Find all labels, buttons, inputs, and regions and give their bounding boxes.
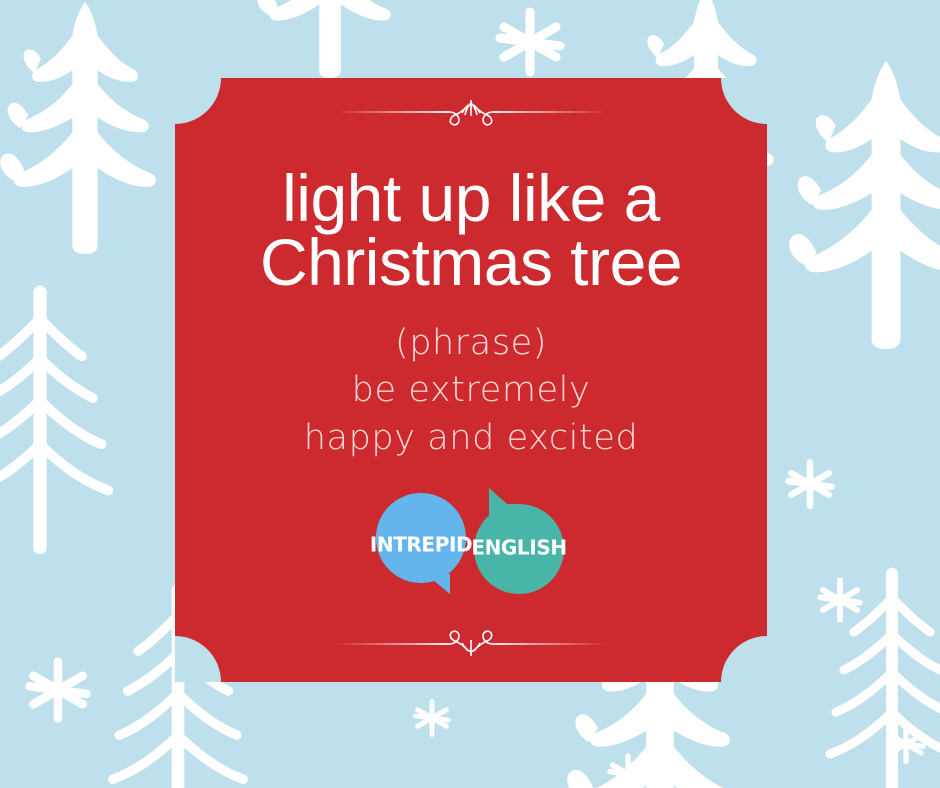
- ornament-divider-top: [331, 96, 611, 130]
- quote-card: light up like a Christmas tree (phrase) …: [175, 78, 767, 682]
- definition-line-1: be extremely: [304, 367, 639, 414]
- ornament-divider-bottom: [331, 626, 611, 660]
- part-of-speech-label: (phrase): [304, 320, 639, 367]
- logo-text-intrepid: INTREPID: [371, 532, 472, 556]
- logo-text-english: ENGLISH: [471, 535, 566, 559]
- intrepid-english-logo[interactable]: INTREPID ENGLISH: [371, 488, 571, 600]
- christmas-phrase-card-image: light up like a Christmas tree (phrase) …: [0, 0, 940, 788]
- definition-line-2: happy and excited: [304, 415, 639, 462]
- phrase-definition-block: (phrase) be extremely happy and excited: [304, 320, 639, 462]
- phrase-headline: light up like a Christmas tree: [241, 166, 701, 294]
